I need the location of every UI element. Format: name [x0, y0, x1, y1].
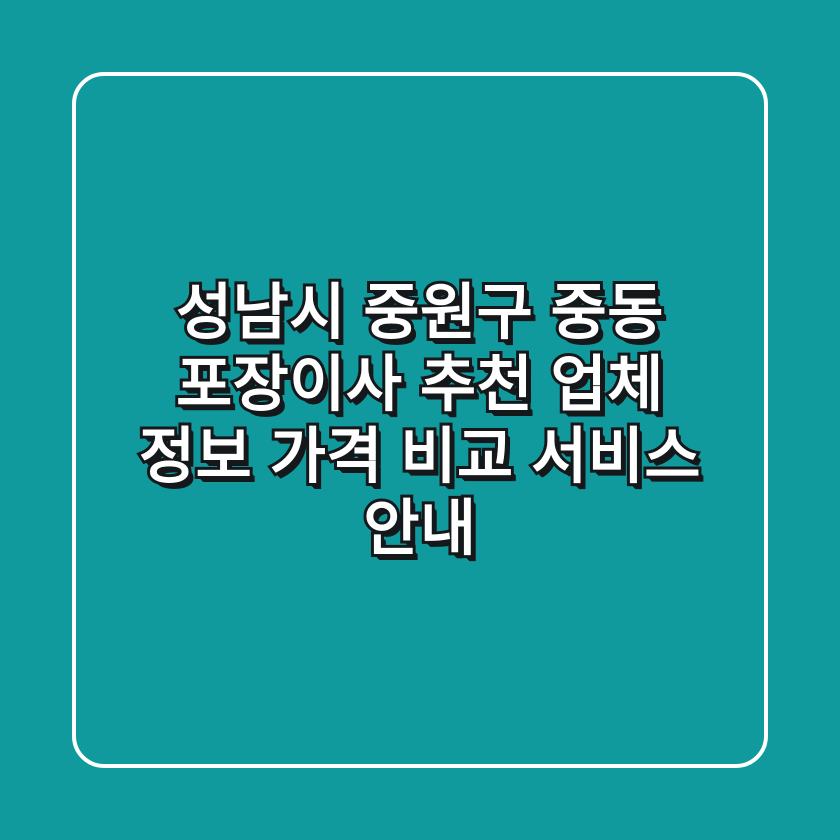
title-line-1: 성남시 중원구 중동 [70, 276, 770, 348]
poster-canvas: 성남시 중원구 중동 포장이사 추천 업체 정보 가격 비교 서비스 안내 [0, 0, 840, 840]
title-line-2: 포장이사 추천 업체 [70, 348, 770, 420]
title-line-4: 안내 [70, 492, 770, 564]
headline-block: 성남시 중원구 중동 포장이사 추천 업체 정보 가격 비교 서비스 안내 [0, 0, 840, 840]
title-line-3: 정보 가격 비교 서비스 [70, 420, 770, 492]
